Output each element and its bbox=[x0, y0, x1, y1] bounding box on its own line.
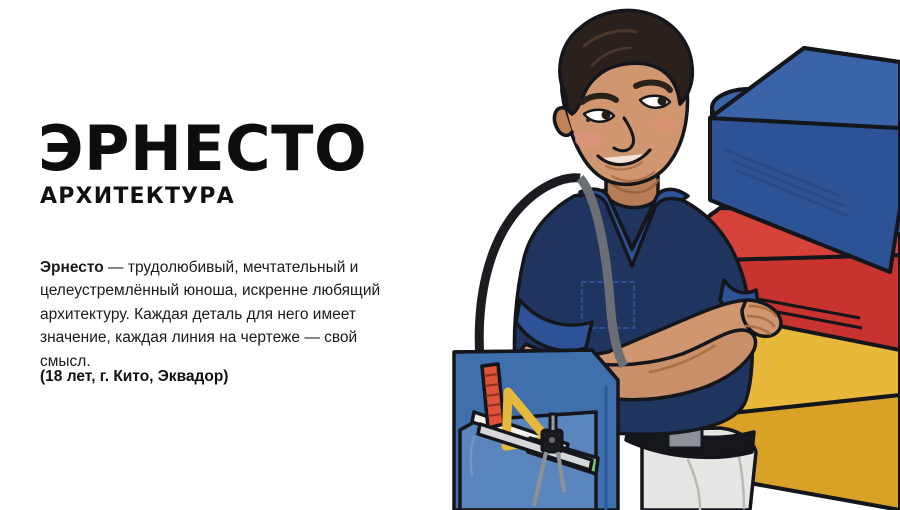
body-lead-name: Эрнесто bbox=[40, 259, 104, 276]
text-column: ЭРНЕСТО АРХИТЕКТУРА Эрнесто — трудолюбив… bbox=[38, 0, 418, 510]
character-illustration bbox=[420, 0, 900, 510]
page-subtitle: АРХИТЕКТУРА bbox=[40, 186, 235, 208]
footnote-age-location: (18 лет, г. Кито, Эквадор) bbox=[40, 368, 228, 386]
illustration-svg bbox=[420, 0, 900, 510]
right-cheek-blush bbox=[653, 117, 675, 131]
page-title: ЭРНЕСТО bbox=[38, 118, 367, 180]
slide-root: ЭРНЕСТО АРХИТЕКТУРА Эрнесто — трудолюбив… bbox=[0, 0, 900, 510]
left-cheek-blush bbox=[575, 132, 601, 148]
body-paragraph: Эрнесто — трудолюбивый, мечтательный и ц… bbox=[40, 256, 395, 374]
